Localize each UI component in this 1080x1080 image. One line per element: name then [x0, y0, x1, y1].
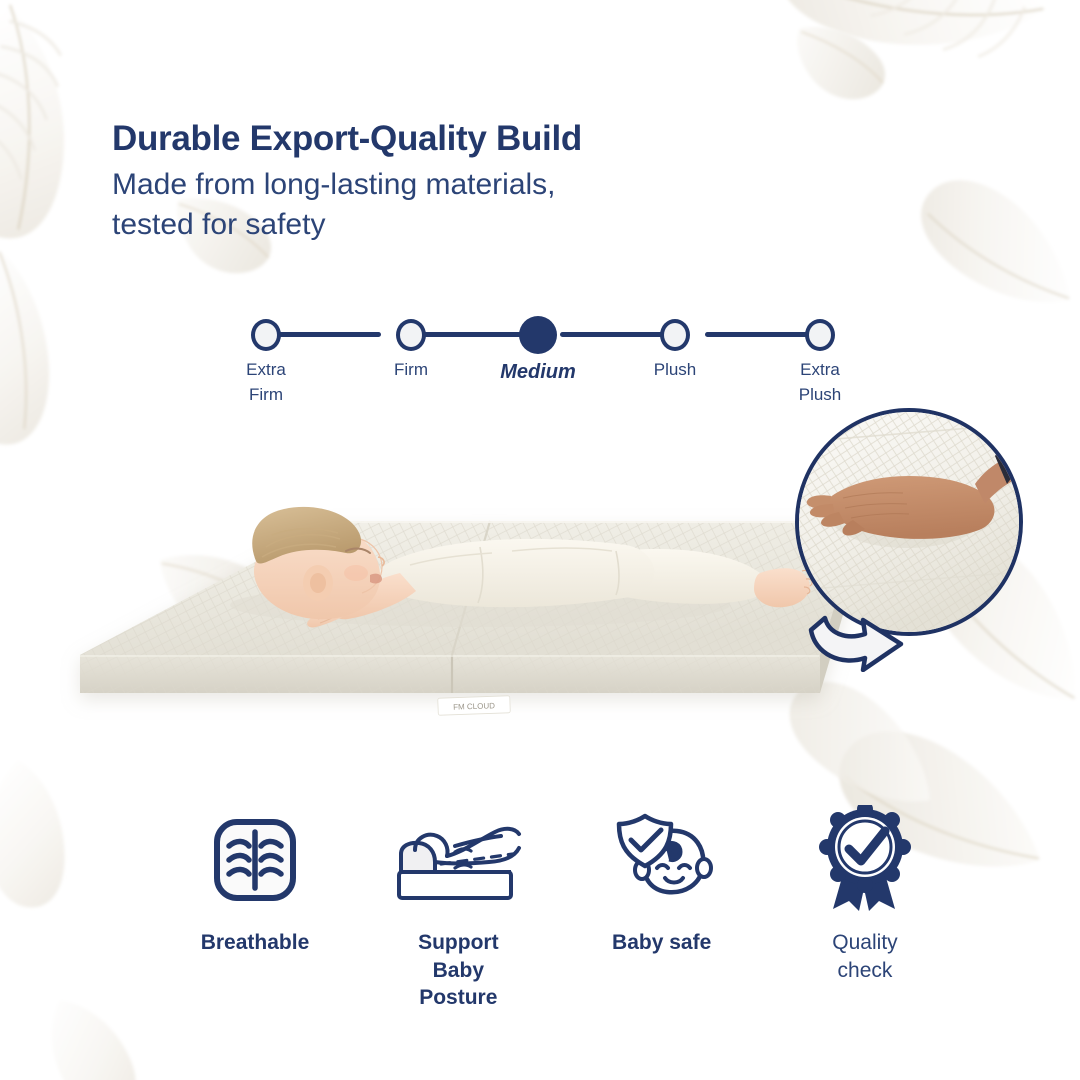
- firmness-label-medium: Medium: [478, 358, 598, 387]
- firmness-node-extra-firm[interactable]: [251, 319, 281, 351]
- feature-posture-support[interactable]: Support Baby Posture: [363, 805, 553, 1012]
- header-block: Durable Export-Quality Build Made from l…: [112, 118, 582, 245]
- page-title: Durable Export-Quality Build: [112, 118, 582, 159]
- firmness-node-medium[interactable]: [519, 316, 557, 354]
- feather-icon: [762, 0, 1050, 130]
- firmness-node-firm[interactable]: [396, 319, 426, 351]
- feather-icon: [0, 246, 90, 455]
- firmness-node-plush[interactable]: [660, 319, 690, 351]
- promo-banner: Durable Export-Quality Build Made from l…: [0, 0, 1080, 1080]
- firmness-label-extra-firm: Extra Firm: [206, 358, 326, 407]
- feature-quality-check[interactable]: Quality check: [770, 805, 960, 984]
- mattress-illustration: FM CLOUD: [60, 495, 890, 765]
- quality-check-icon: [815, 805, 915, 915]
- scale-segment: [266, 332, 381, 337]
- scale-segment: [705, 332, 820, 337]
- feature-row: Breathable: [160, 805, 960, 1025]
- mattress-brand-tag-text: FM CLOUD: [453, 701, 495, 711]
- firmness-label-firm: Firm: [351, 358, 471, 383]
- mattress-brand-tag: FM CLOUD: [438, 696, 511, 716]
- feather-icon: [792, 7, 891, 113]
- scale-segment: [411, 332, 526, 337]
- page-subtitle: Made from long-lasting materials, tested…: [112, 165, 582, 245]
- feature-baby-safe[interactable]: Baby safe: [567, 805, 757, 957]
- firmness-node-extra-plush[interactable]: [805, 319, 835, 351]
- firmness-scale-track: Extra Firm Firm Medium Plush Extra Plush: [248, 316, 828, 354]
- feature-breathable[interactable]: Breathable: [160, 805, 350, 957]
- feature-label-breathable: Breathable: [201, 929, 310, 957]
- feather-icon: [908, 152, 1079, 346]
- feature-label-posture-support: Support Baby Posture: [418, 929, 498, 1012]
- feature-label-quality-check: Quality check: [832, 929, 897, 984]
- firmness-label-extra-plush: Extra Plush: [760, 358, 880, 407]
- firmness-scale[interactable]: Extra Firm Firm Medium Plush Extra Plush: [248, 316, 828, 416]
- posture-support-icon: [393, 805, 523, 915]
- scale-segment: [560, 332, 675, 337]
- product-image: FM CLOUD: [60, 495, 890, 765]
- curved-arrow-icon: [805, 600, 915, 672]
- feather-icon: [46, 991, 139, 1080]
- feather-icon: [0, 757, 84, 913]
- pointer-arrow: [805, 600, 915, 672]
- hand-press-illustration: [799, 412, 1019, 632]
- breathable-icon: [205, 805, 305, 915]
- baby-safe-icon: [607, 805, 717, 915]
- firmness-label-plush: Plush: [615, 358, 735, 383]
- feature-label-baby-safe: Baby safe: [612, 929, 711, 957]
